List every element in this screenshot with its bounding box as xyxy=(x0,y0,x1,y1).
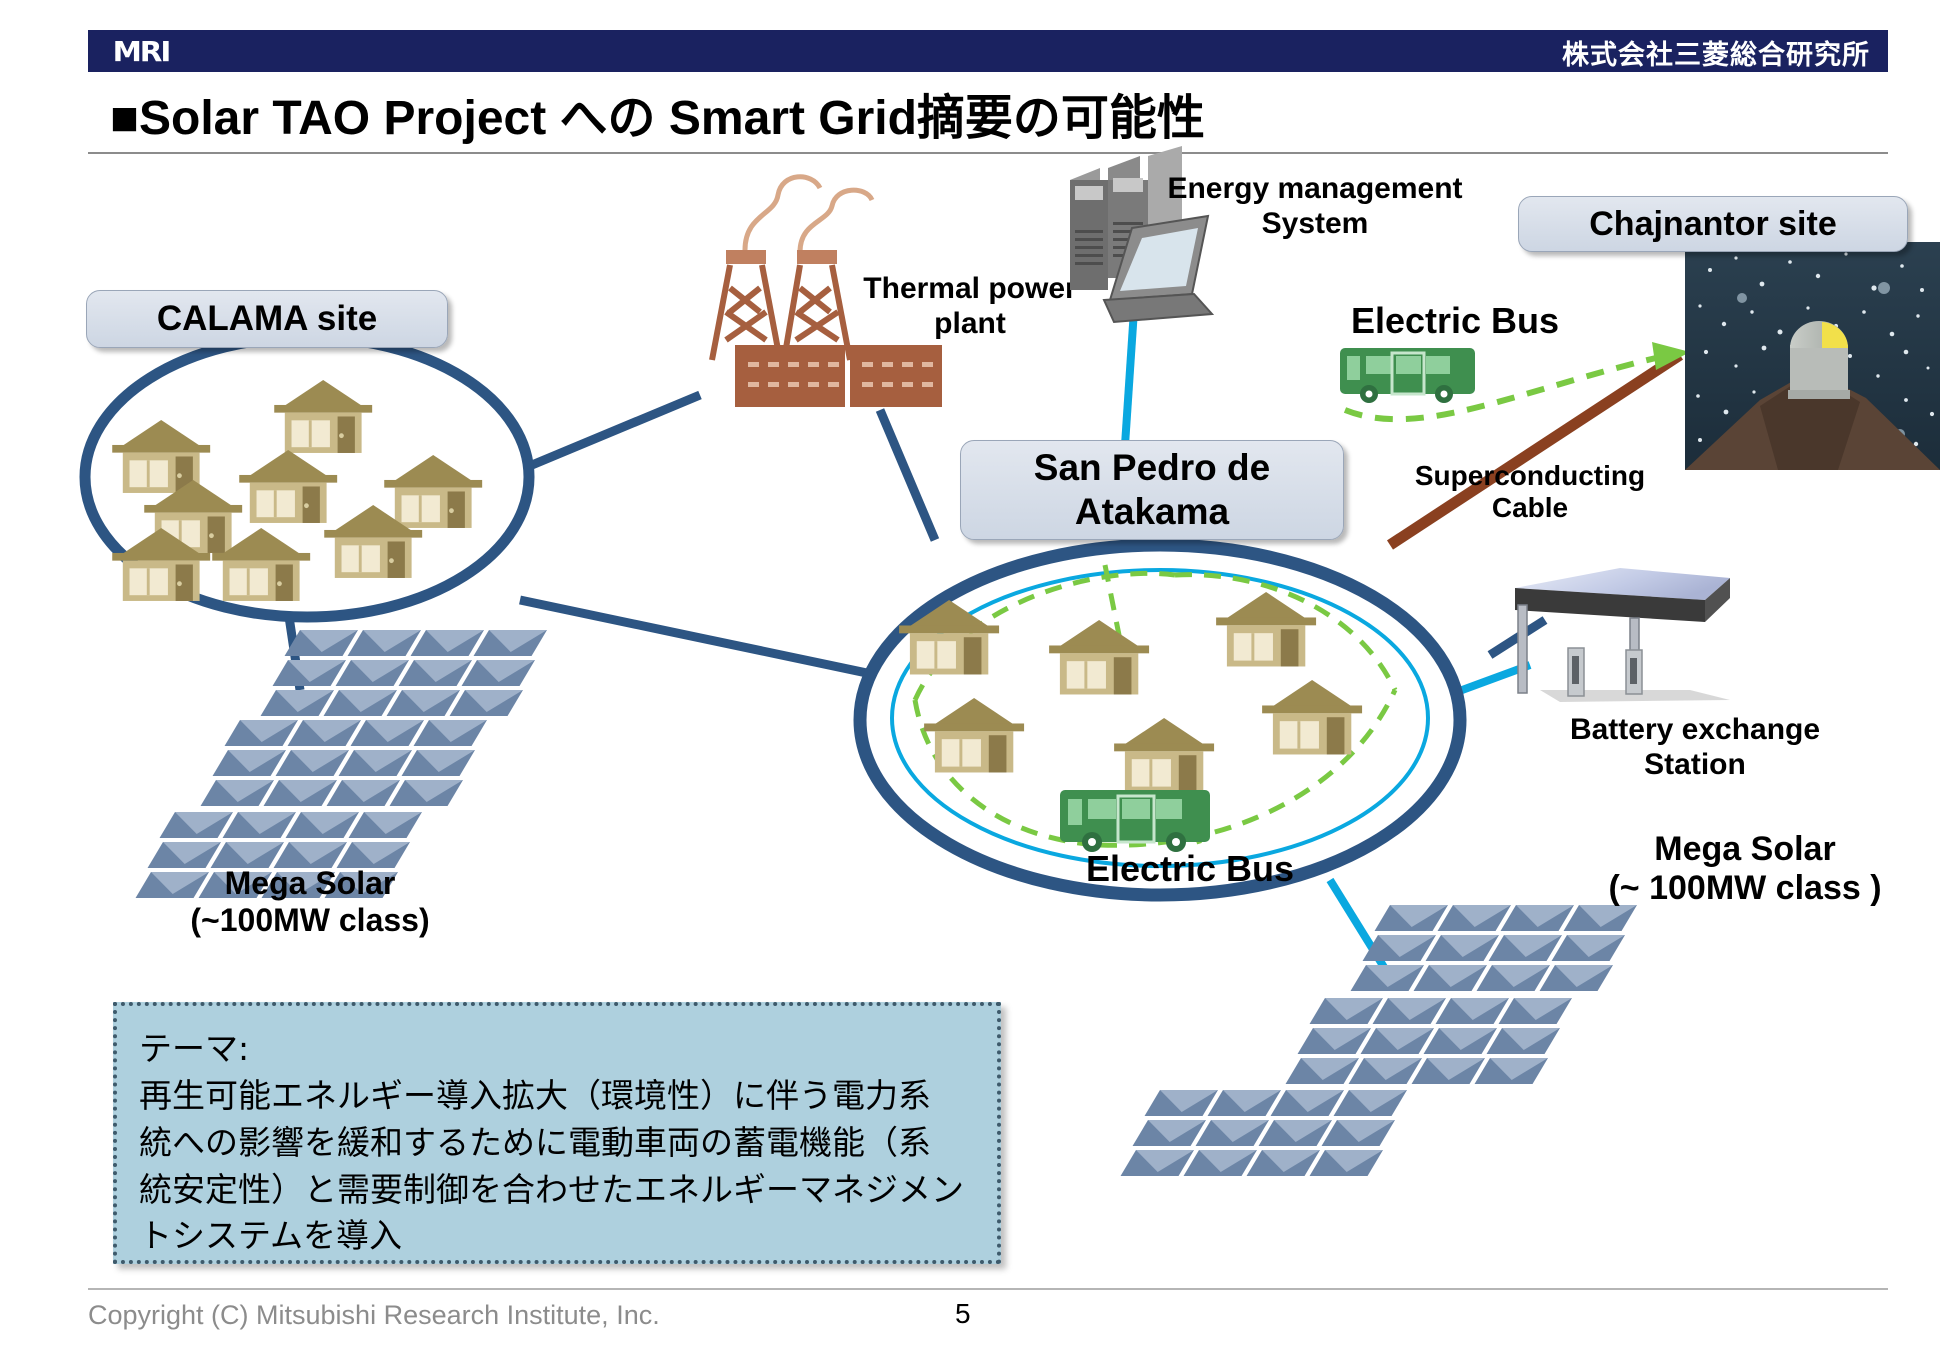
mega-solar-left-label: Mega Solar (~100MW class) xyxy=(170,865,450,939)
san-pedro-site-label: San Pedro de Atakama xyxy=(1034,446,1270,535)
electric-bus-top-label: Electric Bus xyxy=(1330,300,1580,341)
thermal-power-plant-label: Thermal power plant xyxy=(855,272,1085,341)
company-name: 株式会社三菱総合研究所 xyxy=(1562,33,1870,72)
electric-bus-bottom-label: Electric Bus xyxy=(1065,848,1315,889)
theme-text: テーマ: 再生可能エネルギー導入拡大（環境性）に伴う電力系 統への影響を緩和する… xyxy=(139,1026,979,1260)
theme-box: テーマ: 再生可能エネルギー導入拡大（環境性）に伴う電力系 統への影響を緩和する… xyxy=(113,1002,1001,1264)
energy-management-system-label: Energy management System xyxy=(1165,172,1465,241)
mri-logo: MRI xyxy=(113,35,170,68)
mega-solar-right-label: Mega Solar (~ 100MW class ) xyxy=(1580,830,1910,908)
page-number: 5 xyxy=(955,1298,971,1330)
calama-site-label: CALAMA site xyxy=(157,298,377,340)
title-divider xyxy=(88,152,1888,154)
header-bar: MRI 株式会社三菱総合研究所 xyxy=(88,30,1888,72)
san-pedro-site-chip[interactable]: San Pedro de Atakama xyxy=(960,440,1344,540)
chajnantor-site-label: Chajnantor site xyxy=(1589,204,1836,245)
footer-divider xyxy=(88,1288,1888,1290)
page-title: ■Solar TAO Project への Smart Grid摘要の可能性 xyxy=(110,78,1205,148)
battery-exchange-station-label: Battery exchange Station xyxy=(1530,713,1860,782)
chajnantor-site-chip[interactable]: Chajnantor site xyxy=(1518,196,1908,252)
calama-site-chip[interactable]: CALAMA site xyxy=(86,290,448,348)
copyright-text: Copyright (C) Mitsubishi Research Instit… xyxy=(88,1300,660,1331)
superconducting-cable-label: Superconducting Cable xyxy=(1395,460,1665,524)
